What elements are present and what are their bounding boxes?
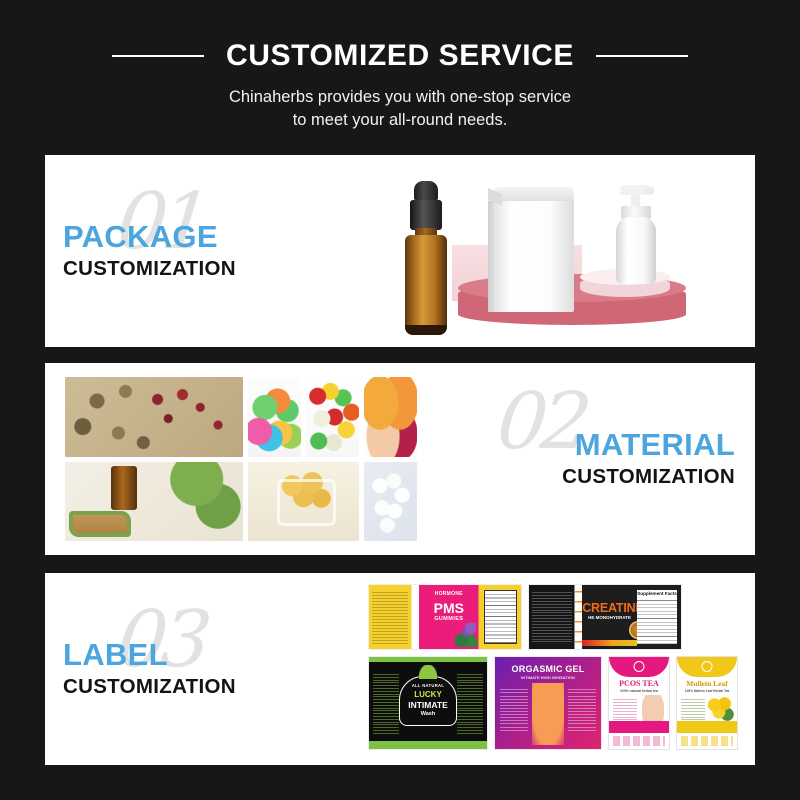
page-subtitle: Chinaherbs provides you with one-stop se…	[0, 86, 800, 133]
label-heading: LABEL	[63, 639, 168, 672]
dropper-collar	[410, 200, 442, 230]
label-subheading: CUSTOMIZATION	[63, 675, 236, 699]
label-mullein-leaf: Mullein Leaf 100% Mullein Leaf Herbal Te…	[677, 657, 737, 749]
dropper-body	[405, 235, 447, 335]
label-copy-text-block	[532, 590, 572, 644]
label-footer-band	[677, 721, 737, 733]
label-product-kind: GUMMIES	[419, 617, 478, 623]
label-product-sub: 100% natural herbal tea	[609, 690, 669, 693]
dropper-cap	[414, 181, 438, 201]
label-design-grid: HORMONE PMS GUMMIES CREATINE HE MONOHYDR…	[369, 585, 737, 753]
photo-gummy-bears	[306, 377, 359, 457]
label-intimate-wash: ALL NATURAL LUCKY INTIMATE Wash	[369, 657, 487, 749]
label-product-name: PMS	[419, 601, 478, 615]
label-copy-text-left	[500, 687, 528, 733]
label-brand-text: HORMONE	[419, 592, 478, 597]
package-subheading: CUSTOMIZATION	[63, 257, 236, 281]
supplement-facts-title: Supplement Facts	[637, 590, 677, 598]
brand-ring-icon	[702, 661, 713, 672]
pouch-front	[494, 193, 574, 312]
label-product-name: ORGASMIC GEL	[495, 665, 601, 674]
title-row: CUSTOMIZED SERVICE	[0, 37, 800, 75]
banner-header: CUSTOMIZED SERVICE Chinaherbs provides y…	[0, 0, 800, 148]
label-text-block: 03 LABEL CUSTOMIZATION	[63, 573, 398, 765]
material-text-block: 02 MATERIAL CUSTOMIZATION	[400, 363, 735, 555]
supplement-facts-panel	[637, 590, 677, 644]
label-product-sub: 100% Mullein Leaf Herbal Tea	[677, 690, 737, 693]
label-creatine: CREATINE HE MONOHYDRATE Supplement Facts	[529, 585, 681, 649]
photo-herbal-oil-bottle-with-green-powder	[65, 462, 243, 542]
label-copy-text-block	[372, 590, 408, 644]
pump-body	[616, 217, 656, 284]
panel-label[interactable]: 03 LABEL CUSTOMIZATION HORMONE PMS GUMMI…	[45, 573, 755, 765]
lavender-sprig-graphic	[455, 623, 481, 647]
label-certification-icons	[681, 736, 733, 746]
amber-dropper-bottle	[402, 181, 450, 336]
label-product-sub: INTIMATE HIGH SENSATION	[495, 676, 601, 680]
material-heading: MATERIAL	[575, 429, 735, 462]
photo-sugar-coated-gumdrops	[248, 377, 301, 457]
material-photo-grid	[65, 377, 417, 541]
label-product-kind: HE MONOHYDRATE	[582, 616, 637, 621]
label-certification-icons	[613, 736, 665, 746]
label-pms-gummies: HORMONE PMS GUMMIES	[369, 585, 521, 649]
label-side-icons	[575, 591, 583, 643]
label-pcos-tea: PCOS TEA 100% natural herbal tea	[609, 657, 669, 749]
label-line-4: Wash	[369, 712, 487, 718]
label-line-1: ALL NATURAL	[369, 684, 487, 688]
package-heading: PACKAGE	[63, 221, 218, 254]
page-title: CUSTOMIZED SERVICE	[226, 41, 574, 71]
brand-ring-icon	[634, 661, 645, 672]
label-line-2: LUCKY	[369, 691, 487, 699]
white-stand-up-pouch	[488, 187, 580, 312]
supplement-facts-panel	[484, 590, 517, 644]
aloe-leaf-icon	[419, 665, 437, 679]
label-copy-text-block	[681, 697, 705, 723]
panel-material[interactable]: 02 MATERIAL CUSTOMIZATION	[45, 363, 755, 555]
subtitle-line-2: to meet your all-round needs.	[0, 109, 800, 132]
package-mockup-photo	[380, 155, 755, 347]
label-product-name: Mullein Leaf	[677, 680, 737, 688]
label-copy-text-right	[568, 687, 596, 733]
panel-package[interactable]: 01 PACKAGE CUSTOMIZATION	[45, 155, 755, 347]
label-product-name: CREATINE	[582, 602, 637, 615]
divider-line-right	[596, 55, 688, 57]
label-footer-band	[609, 721, 669, 733]
label-line-3: INTIMATE	[369, 701, 487, 710]
label-bottom-bar	[582, 640, 637, 646]
promo-banner: CUSTOMIZED SERVICE Chinaherbs provides y…	[0, 0, 800, 800]
subtitle-line-1: Chinaherbs provides you with one-stop se…	[0, 86, 800, 109]
body-silhouette-graphic	[532, 683, 564, 745]
package-text-block: 01 PACKAGE CUSTOMIZATION	[63, 155, 398, 347]
photo-dried-herbs-and-goji-berries	[65, 377, 243, 457]
white-pump-bottle	[612, 185, 662, 285]
material-subheading: CUSTOMIZATION	[562, 465, 735, 489]
label-product-name: PCOS TEA	[609, 680, 669, 688]
photo-golden-softgel-capsules-in-jar	[248, 462, 359, 542]
pouch-top-fold	[494, 187, 574, 201]
label-orgasmic-gel: ORGASMIC GEL INTIMATE HIGH SENSATION	[495, 657, 601, 749]
divider-line-left	[112, 55, 204, 57]
